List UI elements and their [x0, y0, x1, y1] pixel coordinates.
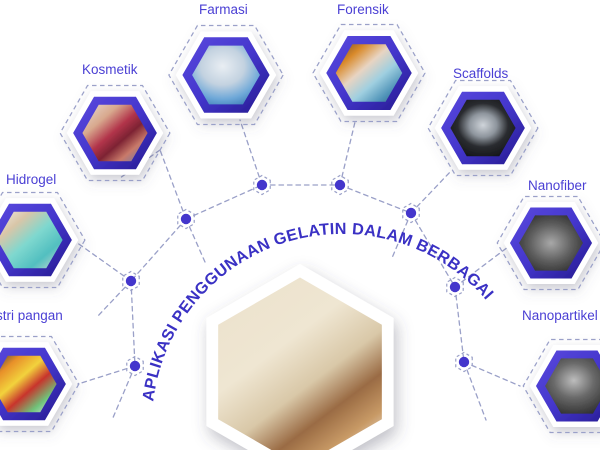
node-label-kosmetik: Kosmetik: [82, 62, 138, 77]
node-label-forensik: Forensik: [337, 2, 389, 17]
node-label-hidrogel: Hidrogel: [6, 172, 56, 187]
node-label-industri-pangan: stri pangan: [0, 308, 63, 323]
node-label-farmasi: Farmasi: [199, 2, 248, 17]
node-label-nanopartikel: Nanopartikel: [522, 308, 598, 323]
node-label-nanofiber: Nanofiber: [528, 178, 587, 193]
node-label-scaffolds: Scaffolds: [453, 66, 508, 81]
infographic-canvas: APLIKASI PENGGUNAAN GELATIN DALAM BERBAG…: [0, 0, 600, 450]
infographic-title: APLIKASI PENGGUNAAN GELATIN DALAM BERBAG…: [0, 0, 497, 402]
